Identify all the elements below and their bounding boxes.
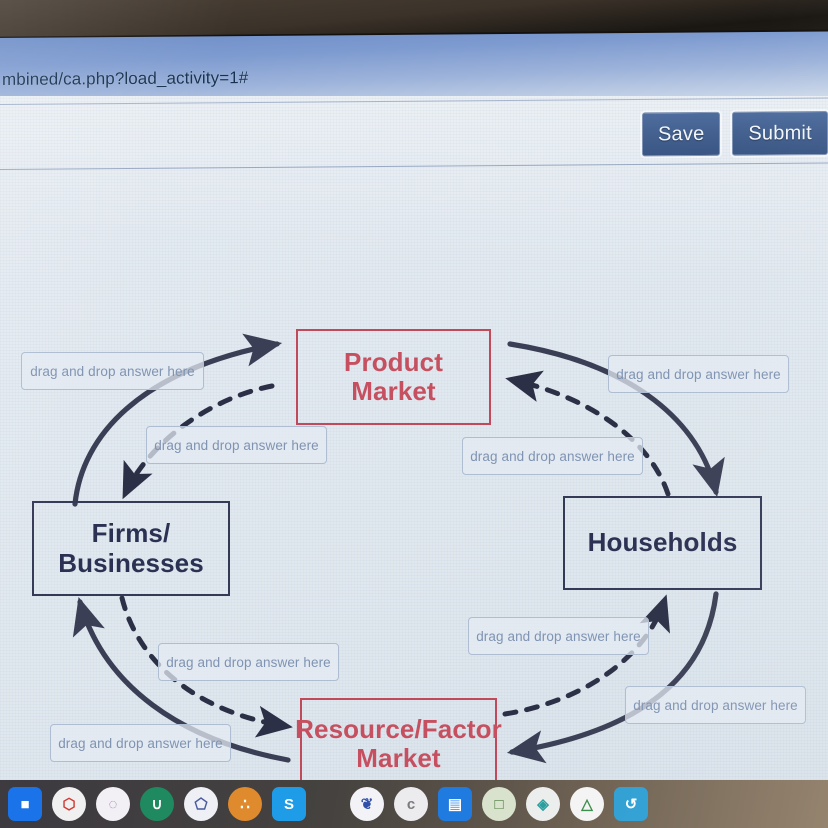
google-drive-icon[interactable]: △ [570, 787, 604, 821]
taskbar: ■⬡◌∪⬠∴S❦c▤□◈△↺ [0, 780, 828, 828]
butterfly-icon[interactable]: ❦ [350, 787, 384, 821]
text-circle-icon[interactable]: c [394, 787, 428, 821]
circular-flow-diagram: ProductMarket Firms/Businesses Household… [0, 174, 828, 774]
node-households-label: Households [588, 528, 738, 557]
node-resource-factor-market-label: Resource/FactorMarket [295, 715, 502, 773]
drop-zone-5[interactable]: drag and drop answer here [468, 617, 649, 655]
drop-zone-6[interactable]: drag and drop answer here [158, 643, 339, 681]
drop-zone-8[interactable]: drag and drop answer here [50, 724, 231, 762]
drop-zone-3[interactable]: drag and drop answer here [608, 355, 789, 393]
activity-page: Save Submit [0, 96, 828, 780]
url-text: mbined/ca.php?load_activity=1# [0, 68, 248, 90]
camera-icon[interactable]: ■ [8, 787, 42, 821]
divider-bottom [0, 162, 828, 170]
drop-zone-2[interactable]: drag and drop answer here [146, 426, 327, 464]
purple-swirl-icon[interactable]: ◌ [96, 787, 130, 821]
red-cube-icon[interactable]: ⬡ [52, 787, 86, 821]
drop-zone-1[interactable]: drag and drop answer here [21, 352, 204, 390]
drop-zone-4[interactable]: drag and drop answer here [462, 437, 643, 475]
browser-address-bar[interactable]: mbined/ca.php?load_activity=1# [0, 56, 828, 96]
node-firms-businesses: Firms/Businesses [32, 501, 230, 596]
node-product-market: ProductMarket [296, 329, 491, 425]
action-bar: Save Submit [642, 110, 828, 157]
node-resource-factor-market: Resource/FactorMarket [300, 698, 497, 780]
drop-zone-7[interactable]: drag and drop answer here [625, 686, 806, 724]
green-desmos-icon[interactable]: ∪ [140, 787, 174, 821]
node-firms-businesses-label: Firms/Businesses [58, 519, 204, 577]
flow-arrows [0, 174, 828, 774]
teal-bow-icon[interactable]: ◈ [526, 787, 560, 821]
node-households: Households [563, 496, 762, 590]
save-button[interactable]: Save [642, 112, 720, 157]
classroom-icon[interactable]: ▤ [438, 787, 472, 821]
node-product-market-label: ProductMarket [344, 348, 443, 406]
contact-card-icon[interactable]: □ [482, 787, 516, 821]
orange-share-icon[interactable]: ∴ [228, 787, 262, 821]
submit-button[interactable]: Submit [733, 111, 828, 156]
blue-app-icon[interactable]: S [272, 787, 306, 821]
blue-polygon-icon[interactable]: ⬠ [184, 787, 218, 821]
refresh-icon[interactable]: ↺ [614, 787, 648, 821]
divider-top [0, 97, 828, 105]
